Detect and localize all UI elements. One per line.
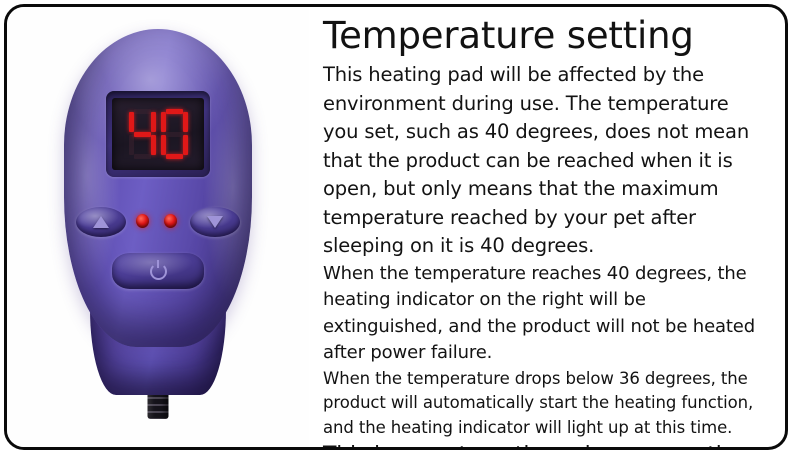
instruction-paragraph-1: This heating pad will be affected by the… <box>323 61 769 261</box>
info-card: Temperature setting This heating pad wil… <box>4 4 788 450</box>
controller-body-upper <box>64 29 252 347</box>
temperature-down-button[interactable] <box>190 207 240 237</box>
arrow-down-icon <box>207 216 223 228</box>
heating-led-indicator <box>164 214 177 228</box>
temperature-up-button[interactable] <box>76 207 126 237</box>
instruction-paragraph-3: When the temperature drops below 36 degr… <box>323 367 769 441</box>
arrow-up-icon <box>93 216 109 228</box>
instruction-paragraph-4: This is an automatic cycle process, the … <box>323 440 769 447</box>
display-digit-tens <box>129 109 156 159</box>
temperature-controller-device <box>60 29 256 419</box>
power-led-indicator <box>136 214 149 228</box>
product-photo-panel <box>7 7 309 447</box>
page-title: Temperature setting <box>323 13 769 59</box>
power-icon <box>150 263 167 280</box>
instruction-text-panel: Temperature setting This heating pad wil… <box>309 7 785 447</box>
display-digit-ones <box>161 109 188 159</box>
power-button[interactable] <box>112 253 204 289</box>
instruction-paragraph-2: When the temperature reaches 40 degrees,… <box>323 261 769 367</box>
temperature-display <box>112 98 204 170</box>
display-bezel <box>106 91 210 177</box>
